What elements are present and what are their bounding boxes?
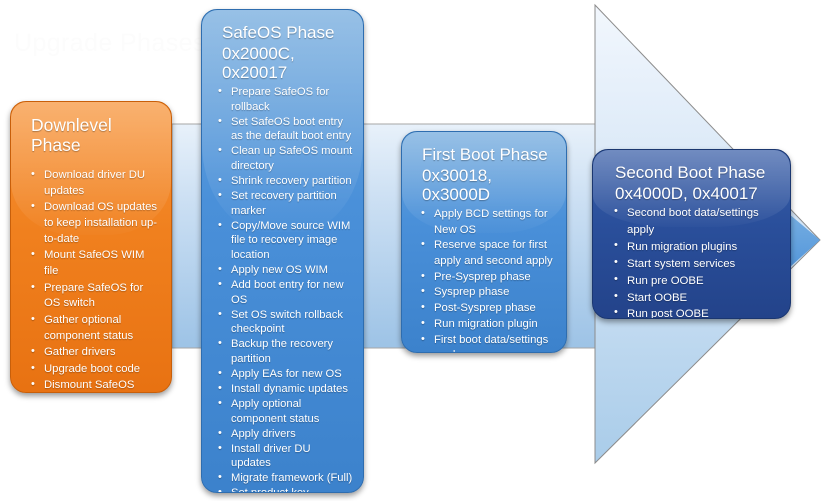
list-item: Set SafeOS boot entry as the default boo… xyxy=(214,115,353,144)
list-item: Run pre OOBE xyxy=(605,273,780,289)
phase-list-safeos: Prepare SafeOS for rollback Set SafeOS b… xyxy=(214,85,353,493)
phase-box-first-boot[interactable]: First Boot Phase 0x30018, 0x3000D Apply … xyxy=(401,131,567,353)
list-item: Apply drivers xyxy=(214,427,353,442)
list-item: Add boot entry for new OS xyxy=(214,278,353,307)
list-item: Set product key xyxy=(214,486,353,493)
list-item: Mount SafeOS WIM file xyxy=(23,248,161,280)
list-item: Copy/Move source WIM file to recovery im… xyxy=(214,219,353,263)
list-item: Download driver DU updates xyxy=(23,168,161,200)
list-item: Run migration plugins xyxy=(605,239,780,255)
list-item: Start OOBE xyxy=(605,290,780,306)
list-item: Run post OOBE xyxy=(605,306,780,319)
phase-box-safeos[interactable]: SafeOS Phase 0x2000C, 0x20017 Prepare Sa… xyxy=(201,9,364,493)
list-item: Set recovery partition marker xyxy=(214,189,353,218)
list-item: Pre-Sysprep phase xyxy=(414,270,556,285)
watermark-title: Upgrade Phases xyxy=(14,29,206,58)
list-item: Apply new OS WIM xyxy=(214,263,353,278)
list-item: Post-Sysprep phase xyxy=(414,301,556,316)
list-item: Clean up SafeOS mount directory xyxy=(214,144,353,173)
phase-title-safeos: SafeOS Phase xyxy=(222,23,353,43)
list-item: Gather optional component status xyxy=(23,313,161,345)
list-item: Apply EAs for new OS xyxy=(214,367,353,382)
list-item: Gather drivers xyxy=(23,345,161,361)
phase-list-second-boot: Second boot data/settings apply Run migr… xyxy=(605,205,780,319)
phase-code-safeos: 0x2000C, 0x20017 xyxy=(222,44,353,83)
list-item: Migrate framework (Full) xyxy=(214,471,353,486)
phase-list-downlevel: Download driver DU updates Download OS u… xyxy=(23,168,161,393)
phase-title-downlevel: Downlevel Phase xyxy=(31,115,161,156)
phase-box-downlevel[interactable]: Downlevel Phase Download driver DU updat… xyxy=(10,101,172,393)
list-item: Install dynamic updates xyxy=(214,382,353,397)
phase-box-second-boot[interactable]: Second Boot Phase 0x4000D, 0x40017 Secon… xyxy=(592,149,791,319)
list-item: Dismount SafeOS xyxy=(23,378,161,393)
list-item: Second boot data/settings apply xyxy=(605,205,780,238)
phase-code-first-boot: 0x30018, 0x3000D xyxy=(422,166,556,205)
list-item: Start system services xyxy=(605,256,780,272)
list-item: Shrink recovery partition xyxy=(214,174,353,189)
list-item: Backup the recovery partition xyxy=(214,337,353,366)
list-item: Sysprep phase xyxy=(414,285,556,300)
list-item: Prepare SafeOS for OS switch xyxy=(23,281,161,313)
list-item: Download OS updates to keep installation… xyxy=(23,200,161,248)
phase-title-first-boot: First Boot Phase xyxy=(422,145,556,165)
list-item: Apply optional component status xyxy=(214,397,353,426)
list-item: Install driver DU updates xyxy=(214,442,353,471)
list-item: Set OS switch rollback checkpoint xyxy=(214,308,353,337)
upgrade-phases-diagram: Upgrade Phases Downlevel Phase Download … xyxy=(0,0,825,501)
list-item: Apply BCD settings for New OS xyxy=(414,207,556,238)
list-item: Reserve space for first apply and second… xyxy=(414,238,556,269)
list-item: Upgrade boot code xyxy=(23,362,161,378)
list-item: Prepare SafeOS for rollback xyxy=(214,85,353,114)
phase-list-first-boot: Apply BCD settings for New OS Reserve sp… xyxy=(414,207,556,353)
list-item: Run migration plugin xyxy=(414,317,556,332)
list-item: First boot data/settings apply xyxy=(414,333,556,353)
phase-title-second-boot: Second Boot Phase xyxy=(615,163,780,183)
phase-code-second-boot: 0x4000D, 0x40017 xyxy=(615,184,780,204)
